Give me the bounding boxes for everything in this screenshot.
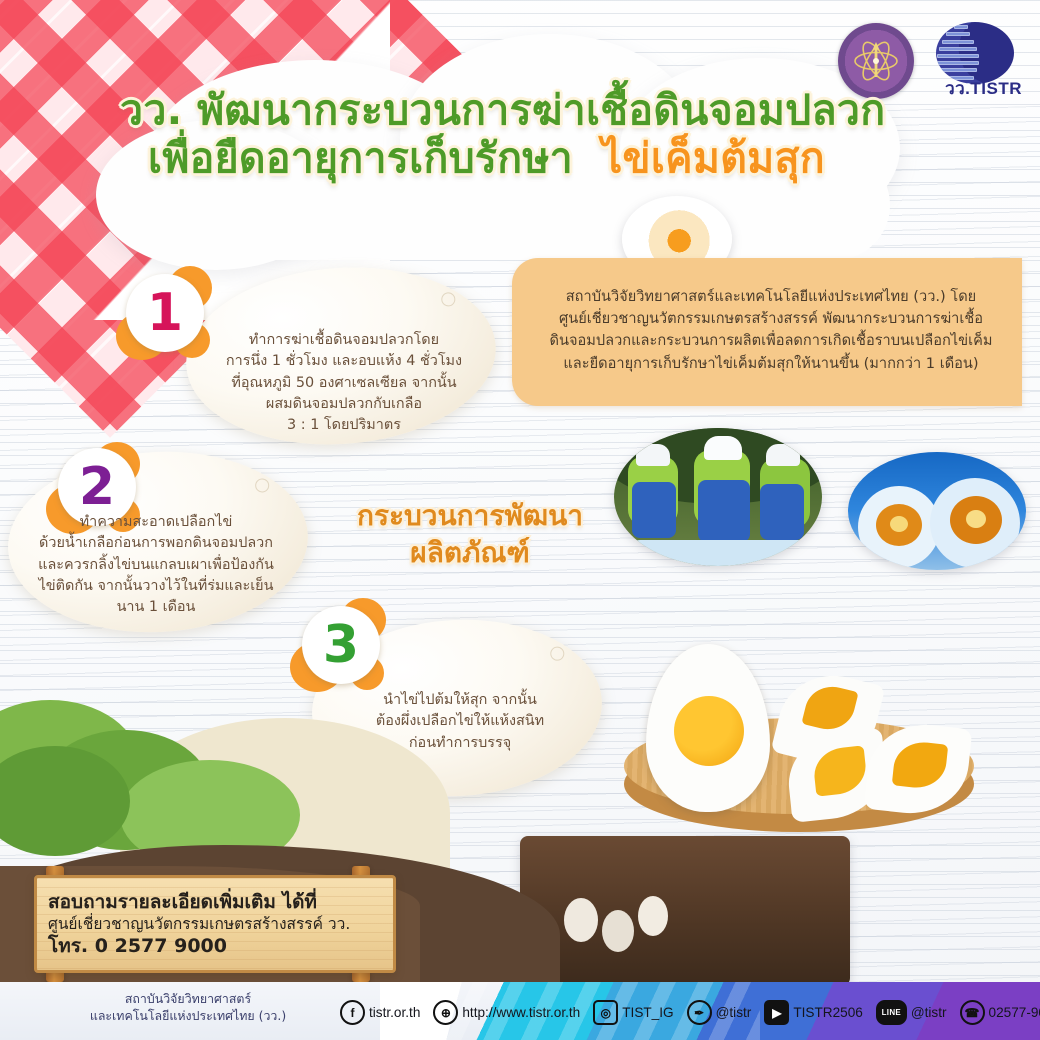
title-line-2-orange: ไข่เค็มต้มสุก	[602, 134, 825, 182]
social-line-label: @tistr	[911, 1005, 947, 1020]
tistr-wordmark: วว.TISTR	[930, 75, 1022, 102]
step-3-badge: 3	[292, 598, 388, 694]
step-2-line-3: และควรกลิ้งไข่บนแกลบเผาเพื่อป้องกัน	[6, 555, 306, 576]
description-line-4: และยืดอายุการเก็บรักษาไข่เค็มต้มสุกให้นา…	[524, 353, 1018, 375]
step-1-number: 1	[126, 274, 204, 352]
step-3-line-1: นำไข่ไปต้มให้สุก จากนั้น	[320, 690, 600, 711]
infographic-poster: วว.TISTR วว. พัฒนากระบวนการฆ่าเชื้อดินจอ…	[0, 0, 1040, 1040]
instagram-icon: ◎	[593, 1000, 618, 1025]
social-website[interactable]: ⊕ http://www.tistr.or.th	[433, 1000, 580, 1025]
step-3-number: 3	[302, 606, 380, 684]
process-heading-line-2: ผลิตภัณฑ์	[330, 535, 610, 572]
description-line-2: ศูนย์เชี่ยวชาญนวัตกรรมเกษตรสร้างสรรค์ พั…	[524, 308, 1018, 330]
step-1-line-2: การนึ่ง 1 ชั่วโมง และอบแห้ง 4 ชั่วโมง	[196, 351, 492, 372]
description-text: สถาบันวิจัยวิทยาศาสตร์และเทคโนโลยีแห่งปร…	[524, 286, 1018, 375]
description-line-1: สถาบันวิจัยวิทยาศาสตร์และเทคโนโลยีแห่งปร…	[524, 286, 1018, 308]
social-twitter-label: @tistr	[716, 1005, 752, 1020]
photo-workers-coating-eggs	[614, 428, 822, 566]
footer-org-line-2: และเทคโนโลยีแห่งประเทศไทย (วว.)	[48, 1008, 328, 1025]
step-2-text: ทำความสะอาดเปลือกไข่ ด้วยน้ำเกลือก่อนการ…	[6, 512, 306, 619]
youtube-icon: ▶	[764, 1000, 789, 1025]
social-youtube[interactable]: ▶ TISTR2506	[764, 1000, 863, 1025]
social-phone[interactable]: ☎ 02577-9000	[960, 1000, 1040, 1025]
step-1-line-5: 3 : 1 โดยปริมาตร	[196, 415, 492, 436]
description-line-3: ดินจอมปลวกและกระบวนการผลิตเพื่อลดการเกิด…	[524, 330, 1018, 352]
atom-icon	[853, 38, 899, 84]
contact-phone: โทร. 0 2577 9000	[48, 934, 378, 960]
step-1-text: ทำการฆ่าเชื้อดินจอมปลวกโดย การนึ่ง 1 ชั่…	[196, 330, 492, 437]
line-icon: LINE	[876, 1000, 907, 1025]
social-links: f tistr.or.th ⊕ http://www.tistr.or.th ◎…	[340, 1000, 1040, 1025]
tistr-globe-logo: วว.TISTR	[930, 22, 1022, 100]
illustration-boiled-eggs-on-wooden-board	[612, 640, 1024, 850]
step-1-line-4: ผสมดินจอมปลวกกับเกลือ	[196, 394, 492, 415]
step-1-line-1: ทำการฆ่าเชื้อดินจอมปลวกโดย	[196, 330, 492, 351]
globe-icon: ⊕	[433, 1000, 458, 1025]
step-2-line-1: ทำความสะอาดเปลือกไข่	[6, 512, 306, 533]
contact-line-1: สอบถามรายละเอียดเพิ่มเติม ได้ที่	[48, 890, 378, 914]
footer-organization-name: สถาบันวิจัยวิทยาศาสตร์ และเทคโนโลยีแห่งป…	[48, 991, 328, 1024]
social-line[interactable]: LINE @tistr	[876, 1000, 947, 1025]
title-line-2: เพื่อยืดอายุการเก็บรักษา ไข่เค็มต้มสุก	[148, 138, 930, 180]
step-1-line-3: ที่อุณหภูมิ 50 องศาเซลเซียล จากนั้น	[196, 373, 492, 394]
page-title: วว. พัฒนากระบวนการฆ่าเชื้อดินจอมปลวก เพื…	[120, 90, 930, 180]
social-youtube-label: TISTR2506	[793, 1005, 863, 1020]
photo-salted-egg-cross-section	[848, 452, 1026, 570]
social-instagram[interactable]: ◎ TIST_IG	[593, 1000, 673, 1025]
footer-org-line-1: สถาบันวิจัยวิทยาศาสตร์	[48, 991, 328, 1008]
social-facebook[interactable]: f tistr.or.th	[340, 1000, 420, 1025]
egg-yolk	[674, 696, 744, 766]
contact-line-2: ศูนย์เชี่ยวชาญนวัตกรรมเกษตรสร้างสรรค์ วว…	[48, 914, 378, 934]
social-website-label: http://www.tistr.or.th	[462, 1005, 580, 1020]
phone-icon: ☎	[960, 1000, 985, 1025]
process-heading-line-1: กระบวนการพัฒนา	[330, 498, 610, 535]
social-facebook-label: tistr.or.th	[369, 1005, 420, 1020]
title-line-2-green: เพื่อยืดอายุการเก็บรักษา	[148, 134, 573, 182]
contact-sign-text: สอบถามรายละเอียดเพิ่มเติม ได้ที่ ศูนย์เช…	[48, 890, 378, 960]
step-2-line-4: ไข่ติดกัน จากนั้นวางไว้ในที่ร่มและเย็น	[6, 576, 306, 597]
step-2-line-2: ด้วยน้ำเกลือก่อนการพอกดินจอมปลวก	[6, 533, 306, 554]
step-2-line-5: นาน 1 เดือน	[6, 597, 306, 618]
social-phone-label: 02577-9000	[989, 1005, 1040, 1020]
social-instagram-label: TIST_IG	[622, 1005, 673, 1020]
photo-eggs-in-soil	[520, 836, 850, 986]
facebook-icon: f	[340, 1000, 365, 1025]
twitter-icon: ✒	[687, 1000, 712, 1025]
title-line-1: วว. พัฒนากระบวนการฆ่าเชื้อดินจอมปลวก	[120, 90, 930, 132]
process-heading: กระบวนการพัฒนา ผลิตภัณฑ์	[330, 498, 610, 572]
social-twitter[interactable]: ✒ @tistr	[687, 1000, 752, 1025]
